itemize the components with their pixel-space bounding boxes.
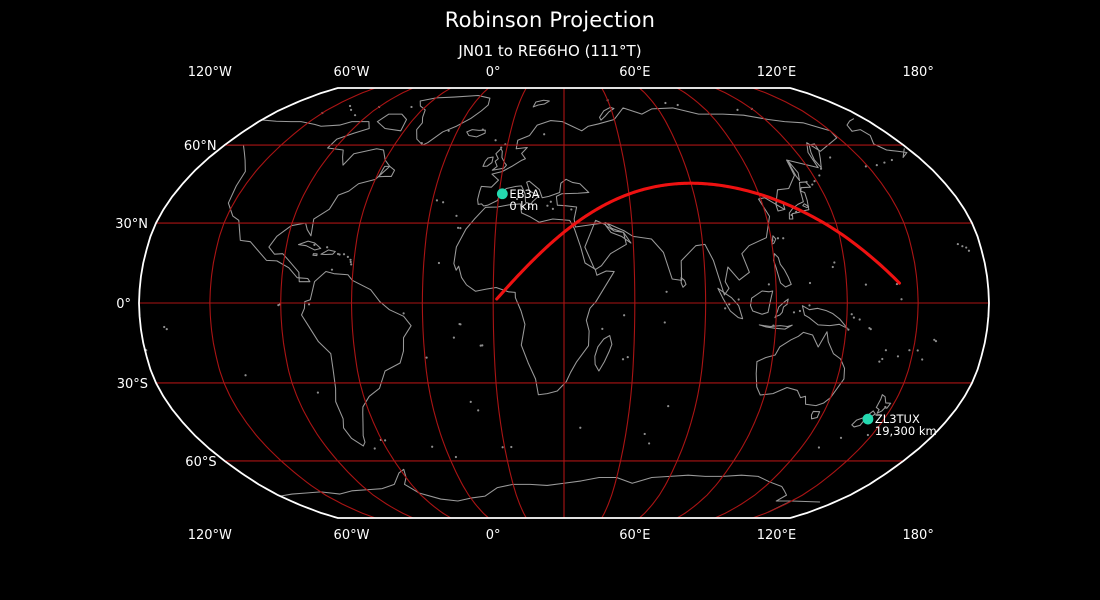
- island-dot: [317, 391, 319, 393]
- lon-label-bottom-3: 120°E: [757, 528, 797, 543]
- island-dot: [867, 434, 869, 436]
- island-dot: [808, 304, 810, 306]
- coastline-newguinea: [802, 306, 847, 329]
- island-dot: [876, 164, 878, 166]
- lon-label-top-5: 120°W: [188, 65, 232, 80]
- island-dot: [494, 139, 496, 141]
- endpoint-distance-label: 0 km: [509, 199, 538, 213]
- island-dot: [724, 307, 726, 309]
- island-dot: [163, 326, 165, 328]
- island-dot: [326, 246, 328, 248]
- island-dot: [790, 214, 792, 216]
- island-dot: [677, 104, 679, 106]
- island-dot: [853, 317, 855, 319]
- coastline-hispaniola: [321, 250, 335, 255]
- island-dot: [829, 156, 831, 158]
- island-dot: [957, 243, 959, 245]
- lon-label-bottom-0: 60°W: [334, 528, 370, 543]
- island-dot: [426, 357, 428, 359]
- island-dot: [793, 311, 795, 313]
- island-dot: [350, 263, 352, 265]
- island-dot: [809, 282, 811, 284]
- island-dot: [374, 447, 376, 449]
- island-dot: [795, 211, 797, 213]
- island-dot: [664, 102, 666, 104]
- island-dot: [644, 433, 646, 435]
- island-dot: [813, 180, 815, 182]
- coastline-greenland: [417, 96, 490, 146]
- endpoint-distance-label: 19,300 km: [875, 424, 937, 438]
- island-dot: [881, 358, 883, 360]
- island-dot: [768, 283, 770, 285]
- endpoint-markers-layer[interactable]: EB3A0 kmZL3TUX19,300 km: [497, 187, 937, 438]
- island-dot: [277, 304, 279, 306]
- island-dot: [840, 437, 842, 439]
- island-dot: [546, 205, 548, 207]
- island-dot: [349, 259, 351, 261]
- island-dot: [500, 146, 502, 148]
- island-dot: [820, 168, 822, 170]
- island-dot: [965, 246, 967, 248]
- island-dot: [968, 250, 970, 252]
- island-dot: [438, 262, 440, 264]
- island-dot: [917, 349, 919, 351]
- island-dot: [805, 181, 807, 183]
- lon-label-top-1: 0°: [486, 65, 501, 80]
- graticule-layer: [139, 88, 989, 518]
- endpoint-marker-zl3tux[interactable]: [863, 414, 874, 425]
- island-dot: [470, 401, 472, 403]
- island-dot: [832, 266, 834, 268]
- island-dot: [884, 406, 886, 408]
- island-dot: [891, 159, 893, 161]
- island-dot: [550, 201, 552, 203]
- island-dot: [818, 446, 820, 448]
- island-dot: [908, 349, 910, 351]
- coastline-madagascar: [595, 336, 612, 371]
- island-dot: [543, 133, 545, 135]
- map-canvas[interactable]: EB3A0 kmZL3TUX19,300 km 60°W60°W0°0°60°E…: [0, 0, 1100, 600]
- endpoint-marker-eb3a[interactable]: [497, 188, 508, 199]
- coastline-cuba: [298, 241, 320, 250]
- island-dot: [448, 130, 450, 132]
- island-dot: [935, 340, 937, 342]
- island-dot: [665, 291, 667, 293]
- island-dot: [482, 129, 484, 131]
- lat-label-1: 30°N: [115, 217, 148, 232]
- island-dot: [431, 446, 433, 448]
- coastline-cuba2: [313, 254, 317, 256]
- lat-label-2: 0°: [116, 297, 131, 312]
- island-dot: [885, 349, 887, 351]
- island-dot: [510, 446, 512, 448]
- island-dot: [436, 199, 438, 201]
- island-dot: [736, 109, 738, 111]
- island-dot: [777, 237, 779, 239]
- island-dot: [961, 245, 963, 247]
- island-dot: [442, 201, 444, 203]
- coastline-ireland: [483, 157, 493, 166]
- island-dot: [818, 174, 820, 176]
- coastline-tasmania: [811, 411, 819, 418]
- lon-label-top-4: 180°: [903, 65, 934, 80]
- island-dot: [455, 215, 457, 217]
- island-dot: [453, 337, 455, 339]
- island-dot: [900, 298, 902, 300]
- island-dot: [664, 321, 666, 323]
- island-dot: [782, 237, 784, 239]
- island-dot: [244, 374, 246, 376]
- island-dot: [622, 358, 624, 360]
- island-dot: [384, 439, 386, 441]
- coastline-namerica: [228, 120, 389, 282]
- lon-label-top-0: 60°W: [334, 65, 370, 80]
- island-dot: [648, 442, 650, 444]
- coastline-novaya: [600, 107, 614, 120]
- island-dot: [347, 256, 349, 258]
- island-dot: [601, 328, 603, 330]
- island-dot: [343, 253, 345, 255]
- coastline-antarctica: [280, 469, 791, 501]
- island-dot: [627, 356, 629, 358]
- island-dot: [859, 318, 861, 320]
- lat-label-4: 60°S: [185, 455, 216, 470]
- island-dot: [552, 208, 554, 210]
- island-dot: [459, 227, 461, 229]
- coastline-iceland: [467, 130, 486, 137]
- island-dot: [403, 312, 405, 314]
- island-dot: [728, 303, 730, 305]
- lon-label-top-2: 60°E: [619, 65, 650, 80]
- coastline-samerica: [302, 272, 412, 446]
- coastline-nz_north: [876, 395, 890, 414]
- island-dot: [350, 109, 352, 111]
- coastline-antarctica: [791, 501, 819, 502]
- island-dot: [865, 284, 867, 286]
- island-dot: [410, 106, 412, 108]
- island-dot: [847, 329, 849, 331]
- island-dot: [870, 328, 872, 330]
- island-dot: [166, 328, 168, 330]
- island-dot: [477, 409, 479, 411]
- island-dot: [421, 142, 423, 144]
- island-dot: [350, 261, 352, 263]
- island-dot: [851, 313, 853, 315]
- island-dot: [811, 183, 813, 185]
- island-dot: [337, 253, 339, 255]
- coastline-svalbard: [533, 100, 549, 107]
- island-dot: [738, 298, 740, 300]
- lon-label-bottom-1: 0°: [486, 528, 501, 543]
- lon-label-bottom-4: 180°: [903, 528, 934, 543]
- lon-label-top-3: 120°E: [757, 65, 797, 80]
- island-dot: [772, 325, 774, 327]
- lon-label-bottom-5: 120°W: [188, 528, 232, 543]
- island-dot: [455, 456, 457, 458]
- island-dot: [459, 323, 461, 325]
- island-dot: [883, 161, 885, 163]
- island-dot: [502, 446, 504, 448]
- island-dot: [354, 114, 356, 116]
- island-dot: [308, 303, 310, 305]
- island-dot: [799, 310, 801, 312]
- coastline-namerica: [847, 119, 854, 131]
- coastline-baffin: [377, 114, 406, 131]
- island-dot: [331, 269, 333, 271]
- lat-label-0: 60°N: [184, 139, 217, 154]
- island-dot: [570, 208, 572, 210]
- island-dot: [481, 344, 483, 346]
- coastline-namerica: [852, 130, 907, 158]
- island-dot: [667, 405, 669, 407]
- island-dot: [878, 361, 880, 363]
- lat-label-3: 30°S: [117, 377, 148, 392]
- island-dot: [623, 314, 625, 316]
- lon-label-bottom-2: 60°E: [619, 528, 650, 543]
- island-dot: [457, 227, 459, 229]
- island-dot: [833, 261, 835, 263]
- island-dot: [897, 355, 899, 357]
- island-dot: [313, 244, 315, 246]
- map-application: Robinson Projection JN01 to RE66HO (111°…: [0, 0, 1100, 600]
- island-dot: [349, 105, 351, 107]
- island-dot: [921, 358, 923, 360]
- island-dot: [579, 427, 581, 429]
